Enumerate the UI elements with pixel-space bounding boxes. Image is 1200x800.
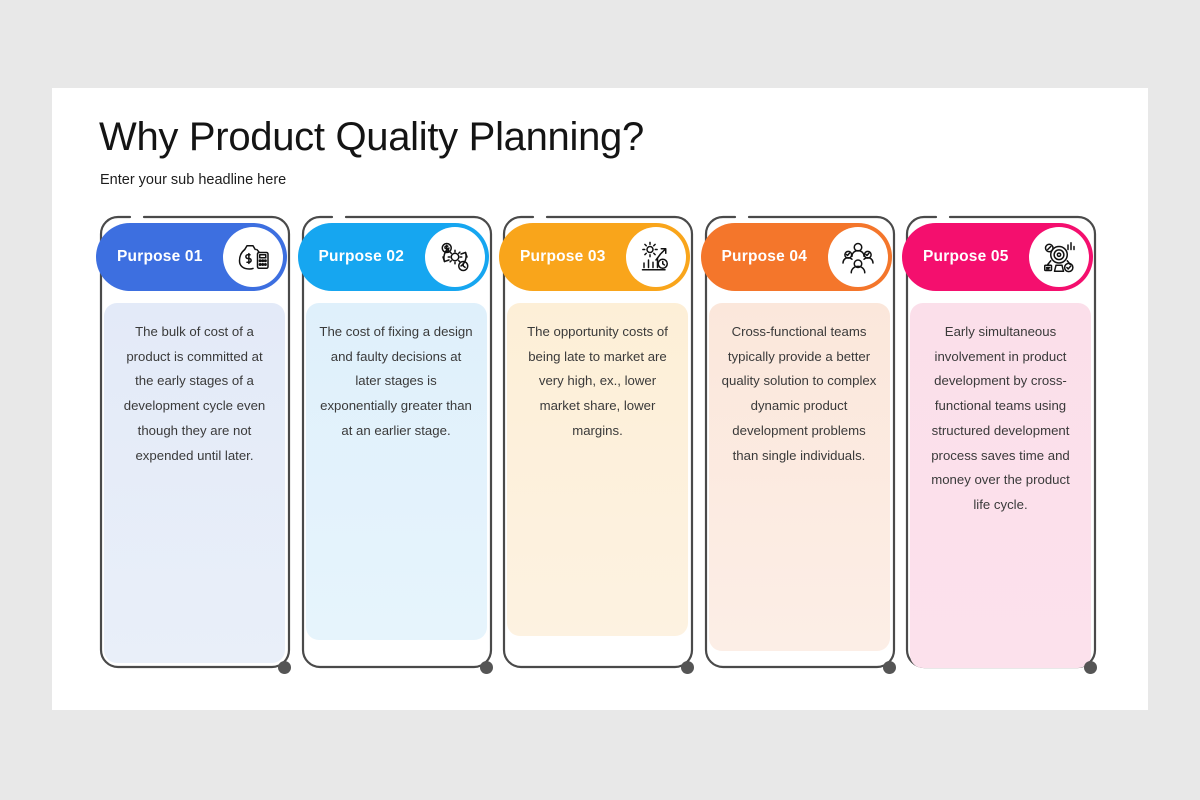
purpose-card-4: Cross-functional teams typically provide… — [709, 303, 890, 651]
purpose-card-1: The bulk of cost of a product is committ… — [104, 303, 285, 663]
presentation-slide: Why Product Quality Planning? Enter your… — [52, 88, 1148, 710]
money-bag-calculator-icon — [223, 227, 283, 287]
purpose-column-3: The opportunity costs of being late to m… — [499, 212, 695, 672]
purpose-pill-label: Purpose 05 — [923, 248, 1009, 266]
track-end-dot — [480, 661, 493, 674]
target-dartboard-icon — [1029, 227, 1089, 287]
track-end-dot — [278, 661, 291, 674]
purpose-column-2: The cost of fixing a design and faulty d… — [298, 212, 494, 672]
purpose-card-3: The opportunity costs of being late to m… — [507, 303, 688, 636]
purpose-card-text: Early simultaneous involvement in produc… — [923, 320, 1078, 518]
purpose-pill-1[interactable]: Purpose 01 — [96, 223, 287, 291]
track-end-dot — [681, 661, 694, 674]
purpose-pill-4[interactable]: Purpose 04 — [701, 223, 892, 291]
purpose-pill-3[interactable]: Purpose 03 — [499, 223, 690, 291]
purpose-pill-label: Purpose 02 — [319, 248, 405, 266]
page-subtitle: Enter your sub headline here — [100, 172, 286, 188]
purpose-column-5: Early simultaneous involvement in produc… — [902, 212, 1098, 672]
purpose-card-text: The cost of fixing a design and faulty d… — [319, 320, 474, 444]
page-title: Why Product Quality Planning? — [99, 115, 644, 160]
purpose-card-text: The opportunity costs of being late to m… — [520, 320, 675, 444]
purpose-card-text: Cross-functional teams typically provide… — [722, 320, 877, 468]
purpose-card-text: The bulk of cost of a product is committ… — [117, 320, 272, 468]
purpose-columns: The bulk of cost of a product is committ… — [96, 212, 1106, 672]
gear-growth-chart-icon — [626, 227, 686, 287]
track-end-dot — [1084, 661, 1097, 674]
track-end-dot — [883, 661, 896, 674]
purpose-card-5: Early simultaneous involvement in produc… — [910, 303, 1091, 668]
purpose-column-1: The bulk of cost of a product is committ… — [96, 212, 292, 672]
purpose-card-2: The cost of fixing a design and faulty d… — [306, 303, 487, 640]
cost-cycle-gear-icon — [425, 227, 485, 287]
purpose-pill-2[interactable]: Purpose 02 — [298, 223, 489, 291]
team-group-icon — [828, 227, 888, 287]
purpose-pill-label: Purpose 03 — [520, 248, 606, 266]
purpose-pill-label: Purpose 04 — [722, 248, 808, 266]
screenshot-stage: Why Product Quality Planning? Enter your… — [0, 0, 1200, 800]
purpose-pill-5[interactable]: Purpose 05 — [902, 223, 1093, 291]
purpose-column-4: Cross-functional teams typically provide… — [701, 212, 897, 672]
purpose-pill-label: Purpose 01 — [117, 248, 203, 266]
